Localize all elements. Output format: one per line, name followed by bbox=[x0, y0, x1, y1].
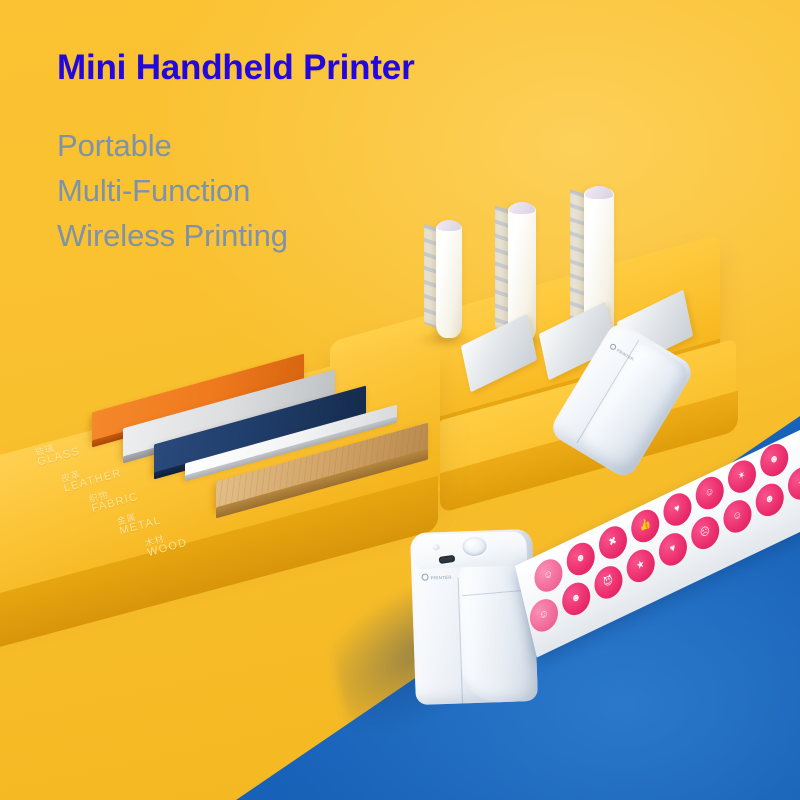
feature-line-3: Wireless Printing bbox=[57, 218, 288, 254]
product-hero-image: 玻璃 GLASS 皮革 LEATHER 织物 FABRIC 金属 METAL 木… bbox=[0, 0, 800, 800]
page-title: Mini Handheld Printer bbox=[57, 48, 415, 88]
printed-icon-14: ☺ bbox=[693, 472, 727, 515]
printer-device-main[interactable]: PRINTER bbox=[410, 529, 538, 705]
printer-main-logo-text: PRINTER bbox=[431, 575, 452, 581]
printed-icon-3: ★ bbox=[624, 544, 658, 587]
feature-line-2: Multi-Function bbox=[57, 173, 250, 209]
printed-icon-7: ☻ bbox=[753, 479, 787, 522]
roll-stack-small bbox=[424, 222, 460, 344]
roll-stack-small-cap bbox=[437, 220, 461, 231]
printed-icon-2: 😈 bbox=[591, 561, 625, 604]
roll-stack-small-roll bbox=[436, 222, 462, 338]
printed-icon-11: ✖ bbox=[596, 521, 630, 564]
feature-line-1: Portable bbox=[57, 128, 172, 164]
printed-icon-0: ☺ bbox=[527, 594, 561, 637]
printed-icon-6: ☺ bbox=[720, 495, 754, 538]
printed-icon-12: 👍 bbox=[628, 505, 662, 548]
printed-icon-4: ♥ bbox=[656, 528, 690, 571]
printed-icon-8: ✦ bbox=[785, 462, 800, 505]
roll-stack-large-cap bbox=[585, 186, 613, 199]
printed-icon-5: ☹ bbox=[688, 512, 722, 555]
printed-icon-1: ☻ bbox=[559, 577, 593, 620]
roll-stack-medium-cap bbox=[509, 202, 535, 214]
printed-icon-10: ☻ bbox=[564, 538, 598, 581]
printed-icon-9: ☺ bbox=[531, 554, 565, 597]
printed-icon-13: ♥ bbox=[660, 488, 694, 531]
